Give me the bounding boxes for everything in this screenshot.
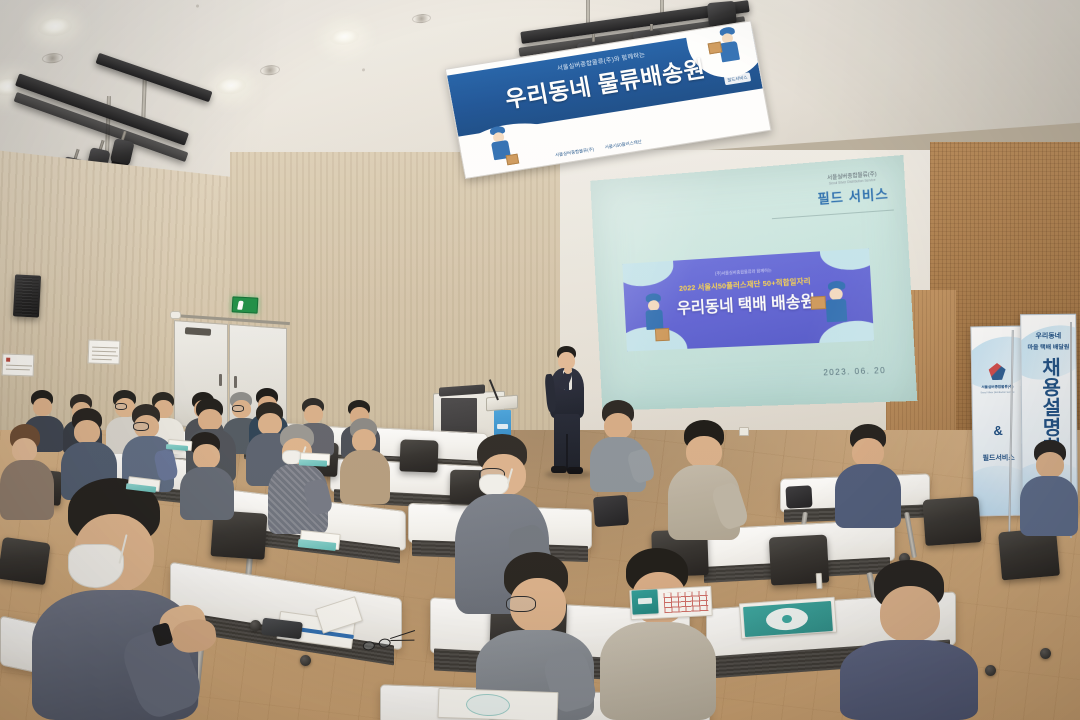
chair[interactable]: [399, 439, 438, 472]
slide-header-logo: 서울실버종합물류(주) Seoul Silver Distribution Se…: [816, 169, 889, 208]
x-banner-right-line2: 마을 택배 배달원: [1027, 342, 1069, 351]
folder-label: [638, 598, 652, 605]
attendee: [840, 560, 980, 720]
chair-caster: [300, 655, 311, 666]
projection-screen: 서울실버종합물류(주) Seoul Silver Distribution Se…: [590, 155, 917, 411]
attendee: [268, 424, 330, 534]
attendee: [600, 548, 718, 720]
security-camera: [170, 311, 181, 319]
chair-label-tag: [816, 573, 823, 589]
chair-caster: [250, 620, 261, 631]
chair-caster: [985, 665, 996, 676]
attendee: [835, 424, 903, 528]
wall-notice: [88, 339, 121, 364]
slide-line-1: (주)서울실버종합물류와 함께하는: [715, 268, 772, 277]
slide-banner-graphic: (주)서울실버종합물류와 함께하는 2022 서울시50플러스재단 50+적합일…: [622, 248, 874, 351]
chair[interactable]: [769, 535, 829, 586]
backpack: [593, 495, 629, 527]
attendee: [32, 478, 200, 720]
wall-notice-lower: [2, 353, 35, 376]
chair-caster: [1040, 648, 1051, 659]
sponsor-logo-2: 서울시50플러스재단: [601, 137, 645, 153]
door-handle-left[interactable]: [219, 374, 222, 386]
handbag: [785, 485, 812, 508]
wall-speaker: [13, 274, 41, 317]
slide-logo-title: 필드 서비스: [817, 183, 889, 208]
slide-figure-right: [813, 274, 855, 339]
attendee: [590, 400, 648, 492]
slide-date: 2023. 06. 20: [823, 366, 886, 378]
eyeglasses: [506, 596, 536, 612]
presenter-hand: [564, 366, 572, 374]
presenter-shadow: [545, 470, 593, 479]
slide-figure-left: [637, 292, 672, 345]
x-banner-right-line1: 우리동네: [1035, 331, 1061, 341]
seminar-room-photo: 서울실버종합물류(주)와 함께하는 우리동네 물류배송원 서울실버종합물류(주)…: [0, 0, 1080, 720]
presenter: [545, 346, 591, 474]
chair[interactable]: [922, 496, 981, 546]
x-banner-left-amp: &: [993, 423, 1003, 438]
door-handle-right[interactable]: [234, 376, 237, 388]
face-mask: [479, 474, 509, 496]
attendee: [340, 418, 392, 504]
eyeglasses: [133, 422, 149, 431]
handout-table-grid: [664, 591, 709, 613]
attendee: [1020, 440, 1080, 536]
presenter-leg-split: [566, 434, 568, 470]
x-banner-left-org: 서울실버종합물류(주): [981, 385, 1013, 391]
attendee: [668, 420, 742, 540]
exit-sign: [232, 296, 259, 313]
x-banner-left-org-en: Seoul Silver Distribution Service: [980, 391, 1014, 395]
projection-screen-frame: 서울실버종합물류(주) Seoul Silver Distribution Se…: [590, 155, 917, 411]
x-banner-left: 서울실버종합물류(주) Seoul Silver Distribution Se…: [970, 326, 1025, 517]
